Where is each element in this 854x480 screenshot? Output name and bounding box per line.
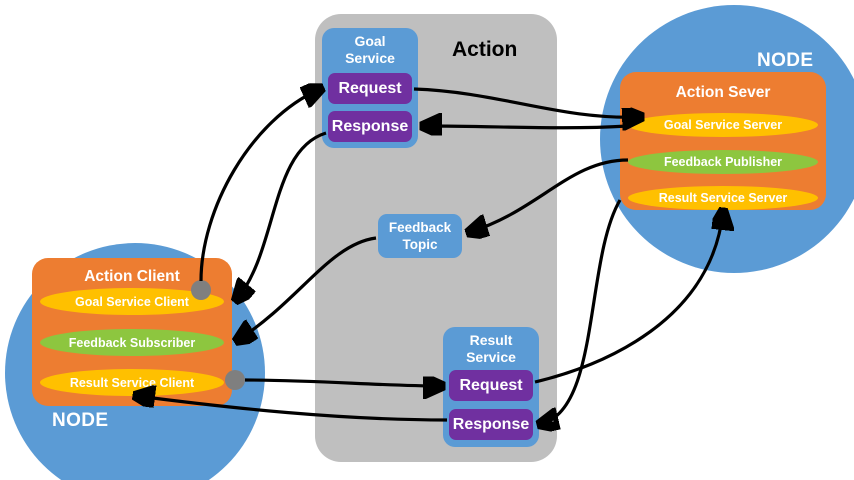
goal-service-title-line1: Goal xyxy=(322,33,418,50)
goal-service-title: Goal Service xyxy=(322,33,418,67)
result-service-title: Result Service xyxy=(443,332,539,366)
client-node-label: NODE xyxy=(52,410,109,432)
feedback-topic-label: Feedback Topic xyxy=(389,219,451,253)
feedback-publisher-pill[interactable]: Feedback Publisher xyxy=(628,150,818,174)
result-service-title-line1: Result xyxy=(443,332,539,349)
result-client-connector-dot xyxy=(225,370,245,390)
goal-response-box[interactable]: Response xyxy=(328,111,412,142)
goal-client-connector-dot xyxy=(191,280,211,300)
goal-service-title-line2: Service xyxy=(322,50,418,67)
diagram-canvas: Action Client Goal Service Client Feedba… xyxy=(0,0,854,480)
server-node-label: NODE xyxy=(757,50,814,72)
wire-goalresponse-to-goalclientpill xyxy=(237,133,326,299)
goal-service-server-pill[interactable]: Goal Service Server xyxy=(628,113,818,137)
result-response-box[interactable]: Response xyxy=(449,409,533,440)
action-panel-title: Action xyxy=(452,38,517,62)
result-service-server-pill[interactable]: Result Service Server xyxy=(628,186,818,210)
goal-request-box[interactable]: Request xyxy=(328,73,412,104)
result-request-box[interactable]: Request xyxy=(449,370,533,401)
wire-goalclient-to-goalrequest xyxy=(201,89,320,281)
result-service-client-pill[interactable]: Result Service Client xyxy=(40,369,224,396)
action-server-title: Action Sever xyxy=(620,84,826,102)
feedback-subscriber-pill[interactable]: Feedback Subscriber xyxy=(40,329,224,356)
feedback-topic-box[interactable]: Feedback Topic xyxy=(378,214,462,258)
result-service-title-line2: Service xyxy=(443,349,539,366)
